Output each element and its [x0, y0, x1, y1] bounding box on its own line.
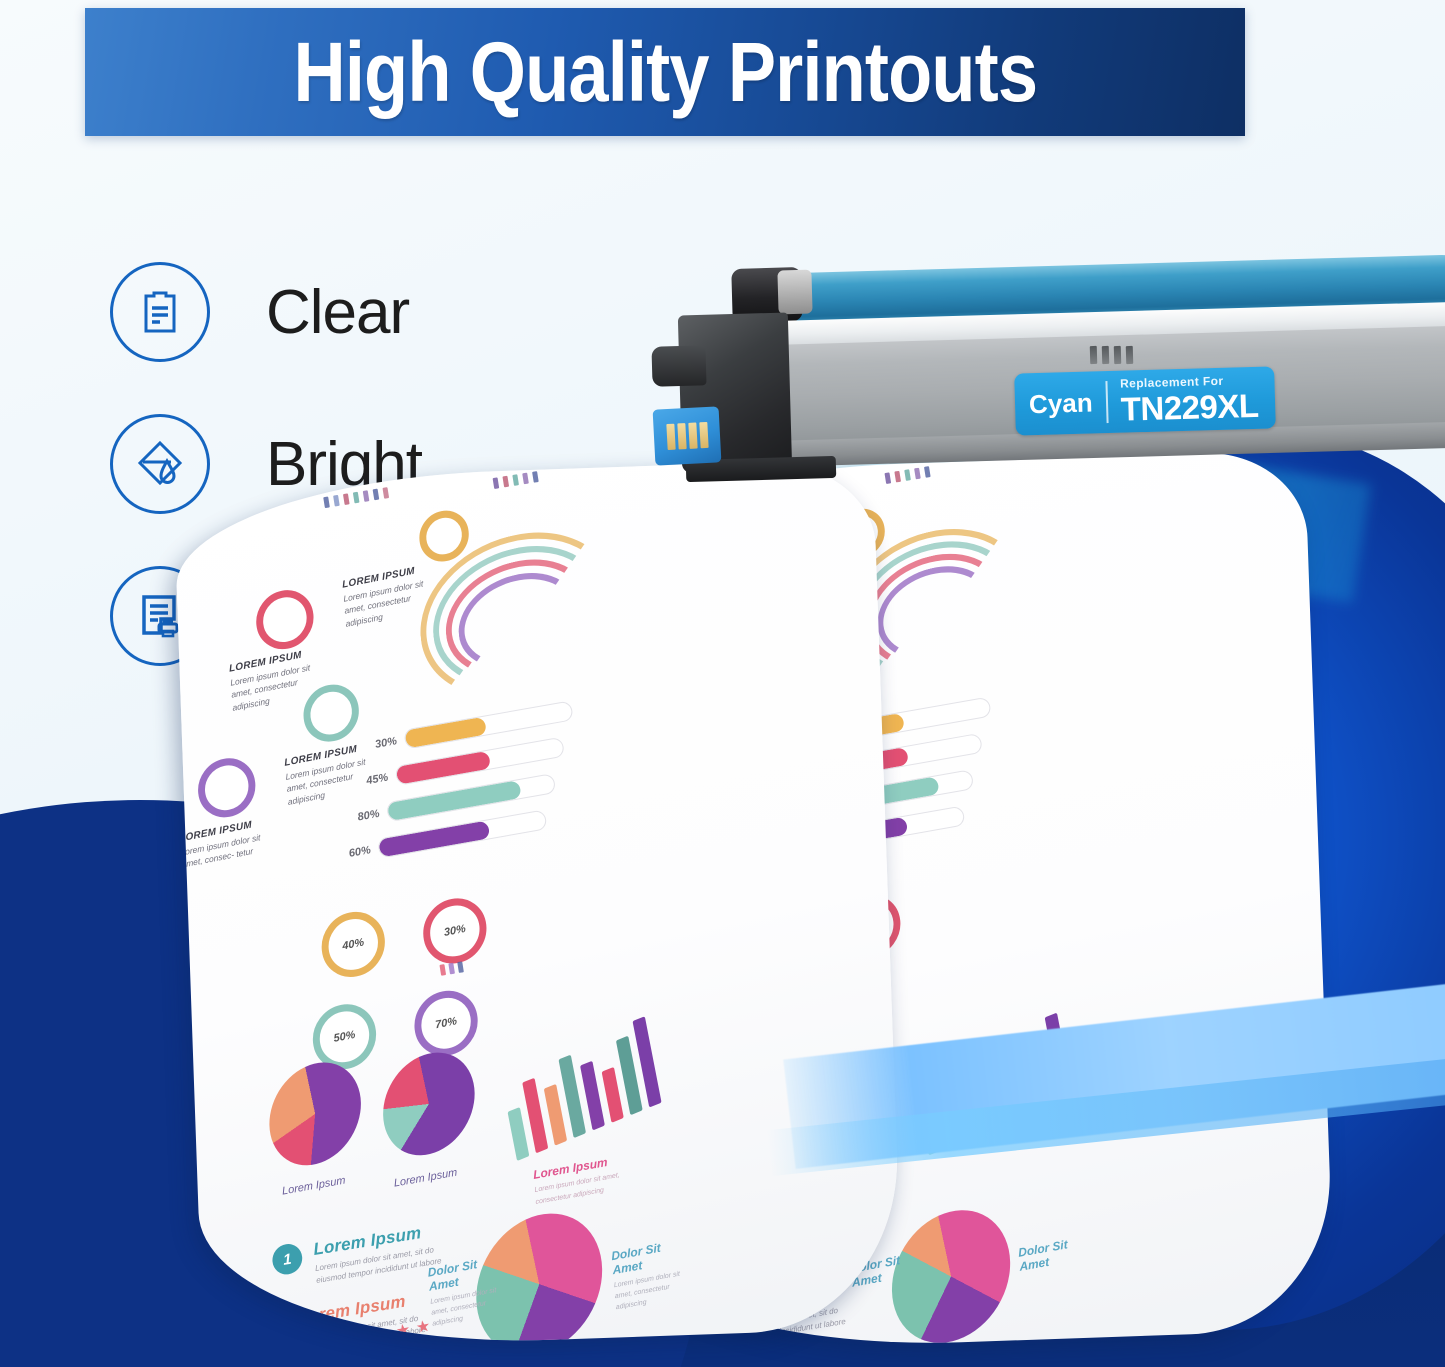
vent-slot — [1114, 346, 1122, 364]
cartridge-chip — [653, 406, 722, 465]
toner-cartridge: Cyan Replacement For TN229XL — [660, 258, 1445, 508]
printout-sheet-front: LOREM IPSUMLorem ipsum dolor sit amet, c… — [173, 458, 903, 1352]
banner-title: High Quality Printouts — [293, 24, 1037, 121]
vent-slot — [1126, 346, 1134, 364]
feature-label-clear: Clear — [266, 277, 409, 348]
document-lines-icon — [110, 262, 210, 362]
product-marketing-image: High Quality Printouts Clear — [0, 0, 1445, 1367]
label-model-number: TN229XL — [1120, 389, 1259, 426]
label-color-name: Cyan — [1029, 387, 1106, 420]
header-banner: High Quality Printouts — [85, 8, 1245, 136]
cartridge-label-badge: Cyan Replacement For TN229XL — [1014, 366, 1276, 435]
cartridge-knob — [651, 345, 706, 386]
feature-item-clear: Clear — [110, 262, 422, 362]
vent-slot — [1102, 346, 1110, 364]
chip-contacts — [666, 422, 708, 450]
vent-slot — [1090, 346, 1098, 364]
drum-gear — [777, 270, 812, 315]
